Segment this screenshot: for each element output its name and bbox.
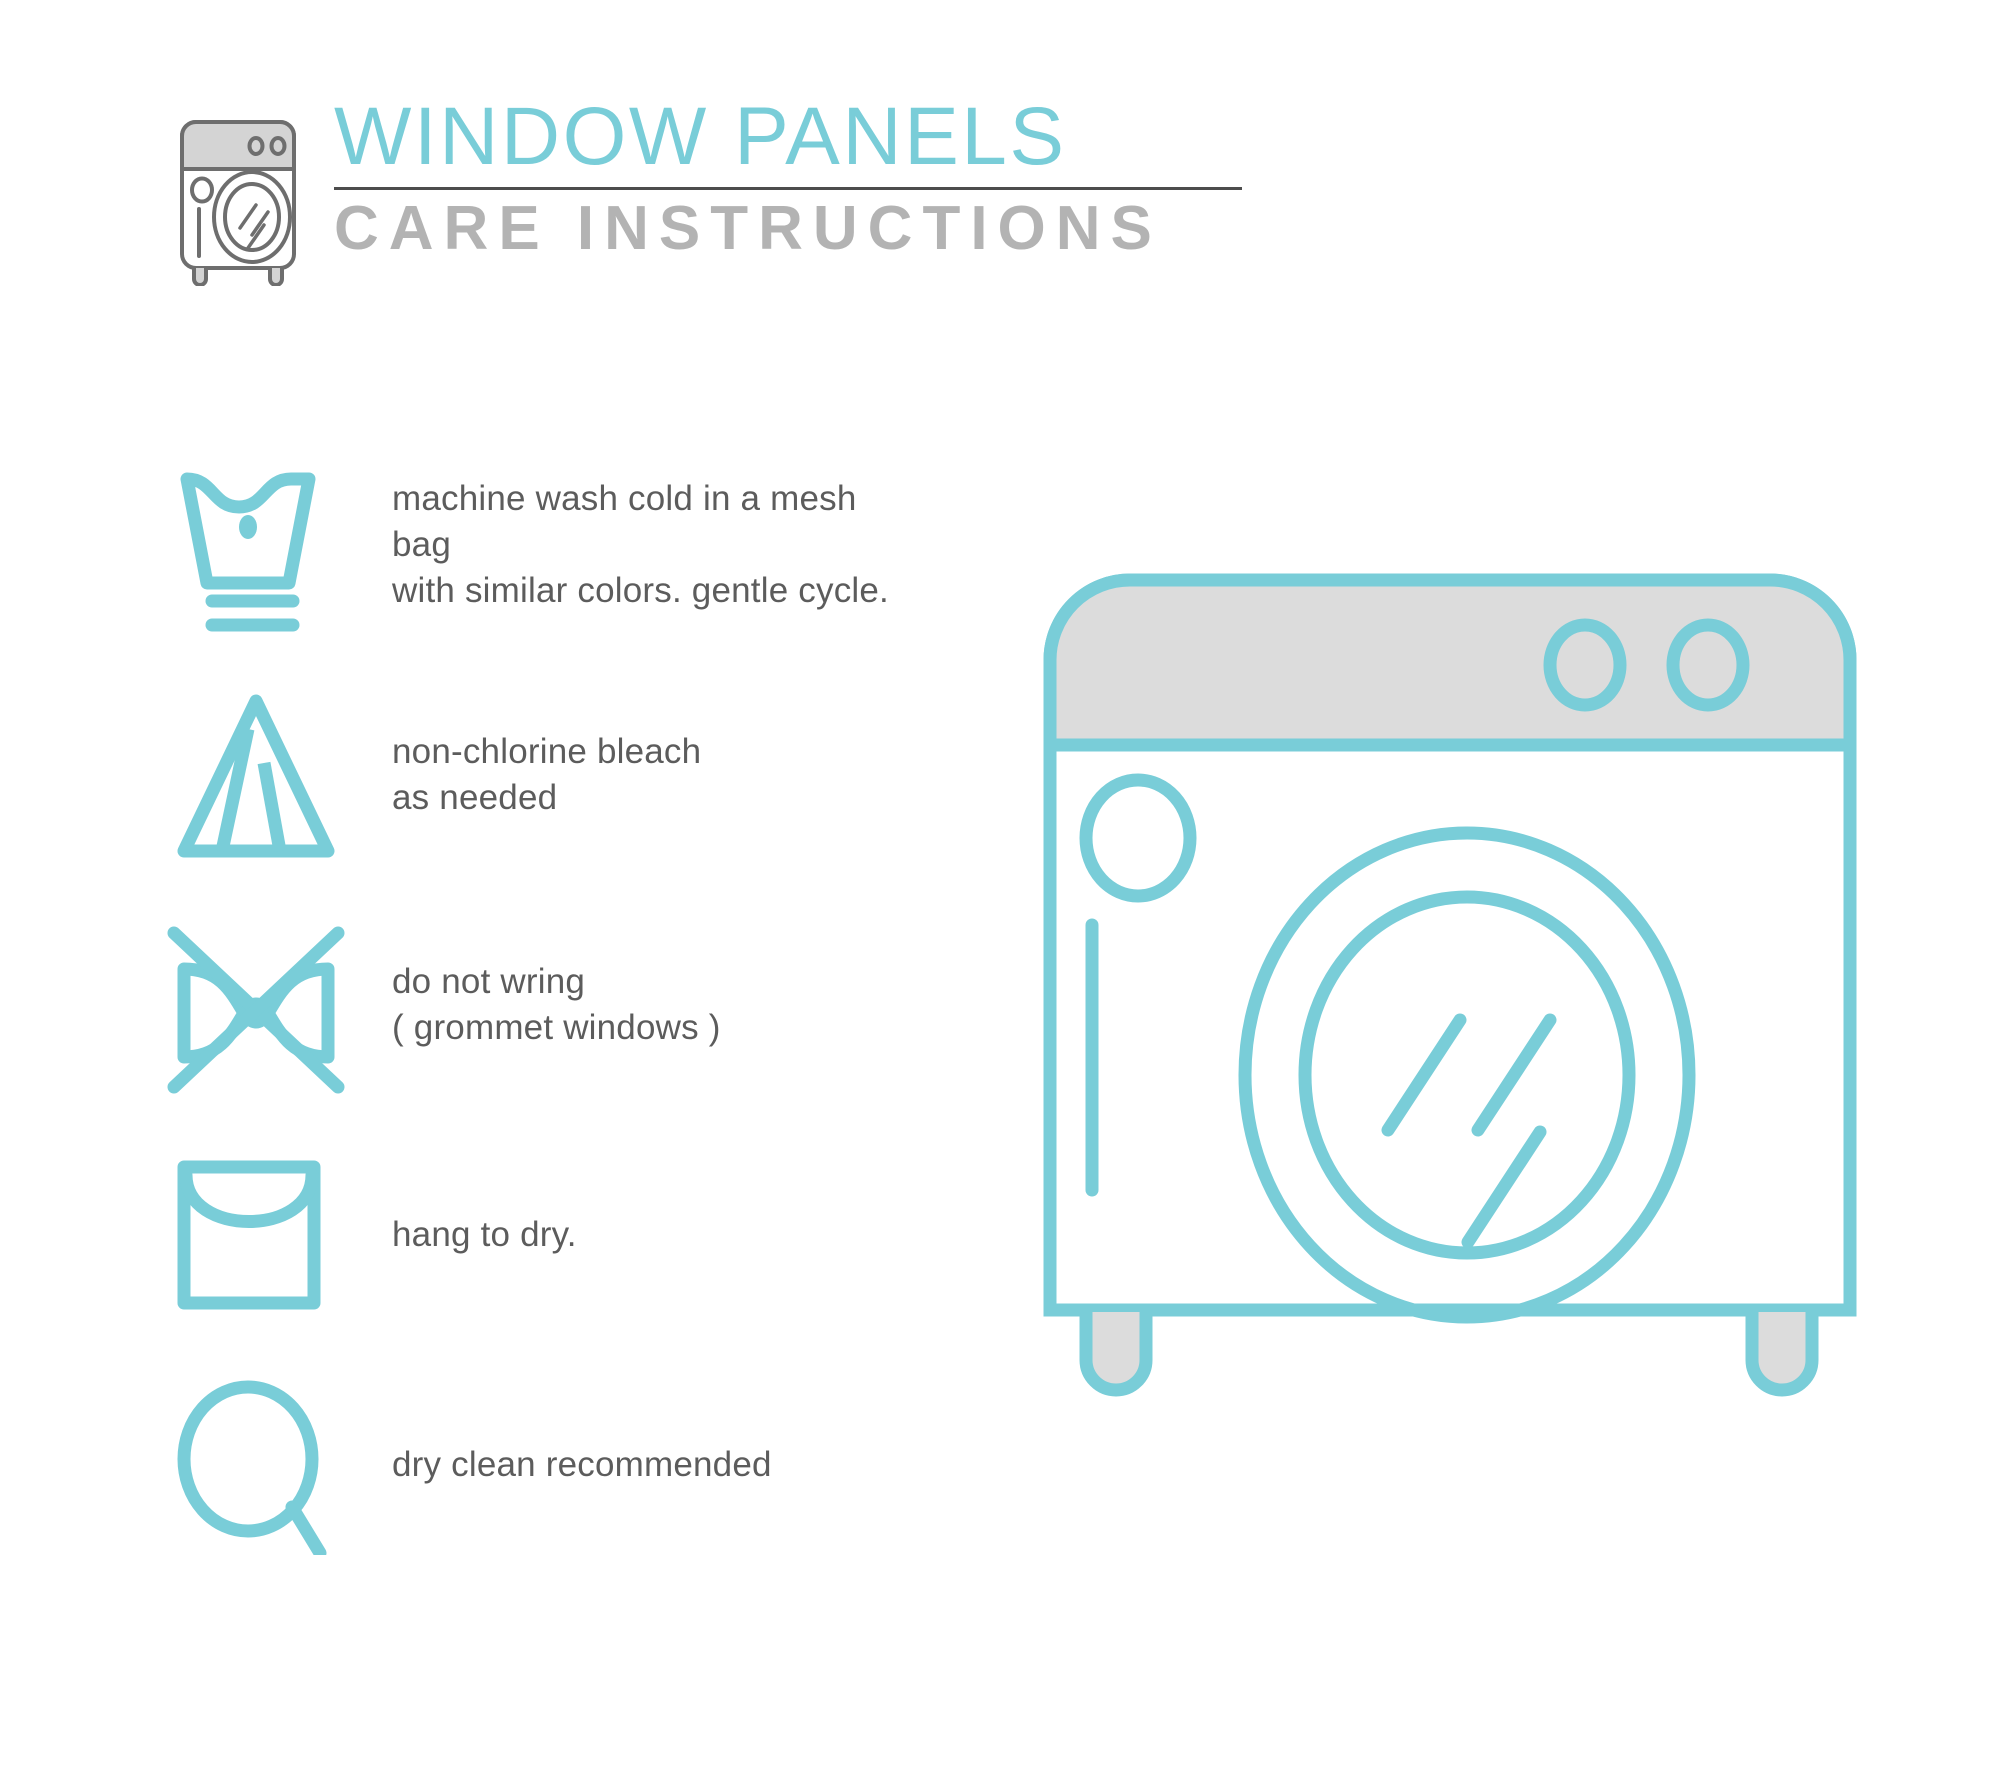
header: WINDOW PANELS CARE INSTRUCTIONS xyxy=(168,96,1348,276)
care-line-2: as needed xyxy=(392,775,910,821)
care-line-2: ( grommet windows ) xyxy=(392,1005,910,1051)
washing-machine-illustration xyxy=(1040,570,1860,1400)
care-row-text: hang to dry. xyxy=(392,1212,910,1258)
care-row-text: do not wring ( grommet windows ) xyxy=(392,959,910,1051)
care-row-text: machine wash cold in a mesh bag with sim… xyxy=(392,476,910,615)
care-row-text: dry clean recommended xyxy=(392,1442,910,1488)
care-line-1: dry clean recommended xyxy=(392,1445,772,1484)
washer-leg xyxy=(1752,1312,1812,1390)
do-not-wring-icon xyxy=(150,910,370,1100)
washing-machine-logo-icon xyxy=(168,104,308,286)
hang-to-dry-icon xyxy=(150,1140,370,1330)
care-line-2: with similar colors. gentle cycle. xyxy=(392,568,910,614)
washer-control-panel xyxy=(1050,580,1850,745)
care-row: dry clean recommended xyxy=(150,1350,910,1580)
care-row: non-chlorine bleach as needed xyxy=(150,660,910,890)
washer-leg xyxy=(1086,1312,1146,1390)
care-row: hang to dry. xyxy=(150,1120,910,1350)
wash-basin-cold-gentle-icon xyxy=(150,450,370,640)
care-line-1: hang to dry. xyxy=(392,1215,577,1254)
care-instructions-list: machine wash cold in a mesh bag with sim… xyxy=(150,430,910,1580)
care-line-1: non-chlorine bleach xyxy=(392,732,701,771)
triangle-non-chlorine-bleach-icon xyxy=(150,680,370,870)
care-row: machine wash cold in a mesh bag with sim… xyxy=(150,430,910,660)
title-divider xyxy=(334,187,1242,190)
page-title: WINDOW PANELS xyxy=(334,98,1348,177)
care-row-text: non-chlorine bleach as needed xyxy=(392,729,910,821)
dry-clean-icon xyxy=(150,1370,370,1560)
page-subtitle: CARE INSTRUCTIONS xyxy=(334,198,1348,260)
care-row: do not wring ( grommet windows ) xyxy=(150,890,910,1120)
care-line-1: do not wring xyxy=(392,962,585,1001)
care-line-1: machine wash cold in a mesh bag xyxy=(392,479,857,564)
header-text-block: WINDOW PANELS CARE INSTRUCTIONS xyxy=(334,96,1348,260)
